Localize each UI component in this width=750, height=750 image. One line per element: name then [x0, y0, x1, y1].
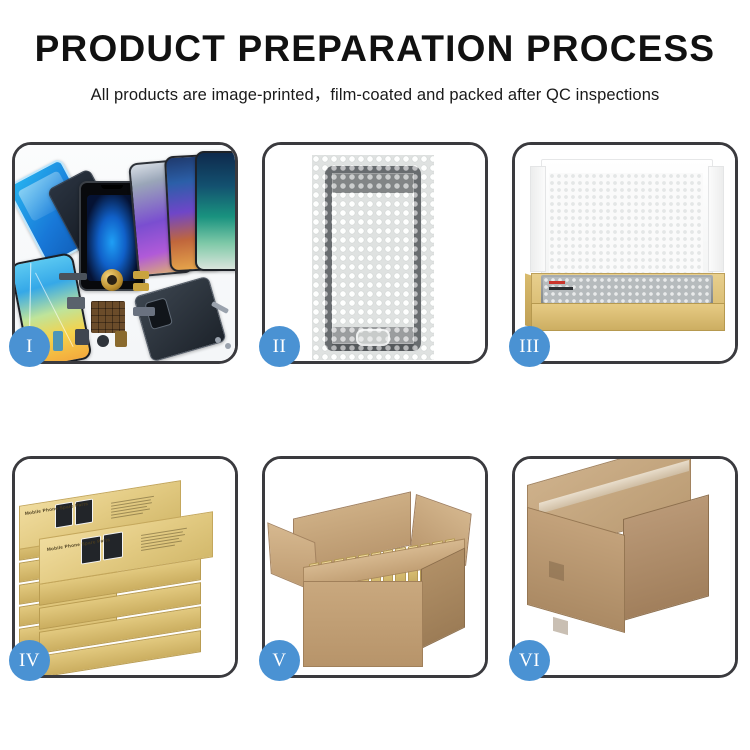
screw-part [225, 343, 231, 349]
foam-padding [549, 173, 703, 277]
step-badge-6: VI [509, 640, 550, 681]
chip-array-part [91, 301, 125, 333]
step-panel-3: III [512, 142, 738, 364]
copper-coil-part [101, 269, 123, 291]
step-badge-1: I [9, 326, 50, 367]
connector-part [133, 307, 155, 316]
step-badge-2: II [259, 326, 300, 367]
speaker-part [59, 273, 87, 280]
bubble-wrap-sheet [312, 155, 434, 360]
screw-part [215, 337, 221, 343]
step-panel-1: I [12, 142, 238, 364]
kraft-box-front [531, 303, 725, 331]
carton-front-face [303, 581, 423, 667]
camera-module-part [75, 329, 89, 345]
header: PRODUCT PREPARATION PROCESS All products… [0, 0, 750, 105]
step-badge-3: III [509, 326, 550, 367]
process-steps-grid: I II [12, 142, 738, 678]
step-3-image [515, 145, 735, 361]
step-2-image [265, 145, 485, 361]
teal-gradient-screen [195, 151, 235, 271]
red-label-mark [549, 281, 565, 284]
lens-part [97, 335, 109, 347]
page-title: PRODUCT PREPARATION PROCESS [0, 30, 750, 69]
step-4-image: Mobile Phone Spare Parts Mobile Phone Sp… [15, 459, 235, 675]
product-preparation-infographic: PRODUCT PREPARATION PROCESS All products… [0, 0, 750, 750]
step-6-image [515, 459, 735, 675]
wrapped-screen-in-box [541, 275, 713, 305]
step-badge-5: V [259, 640, 300, 681]
vibrator-part [115, 331, 127, 347]
dark-label-mark [549, 287, 573, 290]
side-button-part [67, 297, 85, 309]
step-badge-4: IV [9, 640, 50, 681]
step-panel-2: II [262, 142, 488, 364]
page-subtitle: All products are image-printed，film-coat… [0, 81, 750, 105]
bubble-texture-overlay [312, 155, 434, 360]
step-panel-4: Mobile Phone Spare Parts Mobile Phone Sp… [12, 456, 238, 678]
sensor-part [53, 331, 63, 351]
step-1-image [15, 145, 235, 361]
flex-cable-part [133, 271, 149, 279]
step-5-image [265, 459, 485, 675]
step-panel-5: V [262, 456, 488, 678]
step-panel-6: VI [512, 456, 738, 678]
flex-cable-part [133, 283, 149, 291]
